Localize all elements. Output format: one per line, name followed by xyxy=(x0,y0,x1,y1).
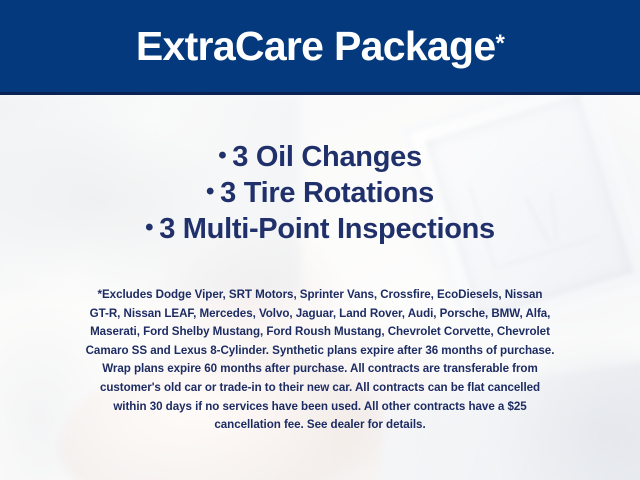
page-title-text: ExtraCare Package xyxy=(136,26,496,67)
disclaimer-line: Camaro SS and Lexus 8-Cylinder. Syntheti… xyxy=(22,342,618,361)
disclaimer-line: within 30 days if no services have been … xyxy=(22,398,618,417)
disclaimer-line: Maserati, Ford Shelby Mustang, Ford Rous… xyxy=(22,323,618,342)
benefits-list: •3 Oil Changes •3 Tire Rotations •3 Mult… xyxy=(0,140,640,248)
page-title-asterisk: * xyxy=(495,32,504,56)
benefit-label: 3 Multi-Point Inspections xyxy=(159,213,495,245)
disclaimer-line: GT-R, Nissan LEAF, Mercedes, Volvo, Jagu… xyxy=(22,305,618,324)
benefit-item-oil-changes: •3 Oil Changes xyxy=(0,140,640,176)
disclaimer-text: *Excludes Dodge Viper, SRT Motors, Sprin… xyxy=(22,286,618,435)
extracare-package-banner: ExtraCare Package* •3 Oil Changes •3 Tir… xyxy=(0,0,640,480)
page-title: ExtraCare Package* xyxy=(0,0,640,92)
bullet-icon: • xyxy=(218,142,226,169)
bullet-icon: • xyxy=(145,214,153,241)
header-divider-rule xyxy=(0,92,640,95)
benefit-item-multi-point-inspections: •3 Multi-Point Inspections xyxy=(0,212,640,248)
disclaimer-line: cancellation fee. See dealer for details… xyxy=(22,416,618,435)
disclaimer-line: Wrap plans expire 60 months after purcha… xyxy=(22,360,618,379)
benefit-label: 3 Oil Changes xyxy=(232,141,422,173)
disclaimer-line: *Excludes Dodge Viper, SRT Motors, Sprin… xyxy=(22,286,618,305)
bullet-icon: • xyxy=(206,178,214,205)
benefit-label: 3 Tire Rotations xyxy=(220,177,434,209)
benefit-item-tire-rotations: •3 Tire Rotations xyxy=(0,176,640,212)
disclaimer-line: customer's old car or trade-in to their … xyxy=(22,379,618,398)
